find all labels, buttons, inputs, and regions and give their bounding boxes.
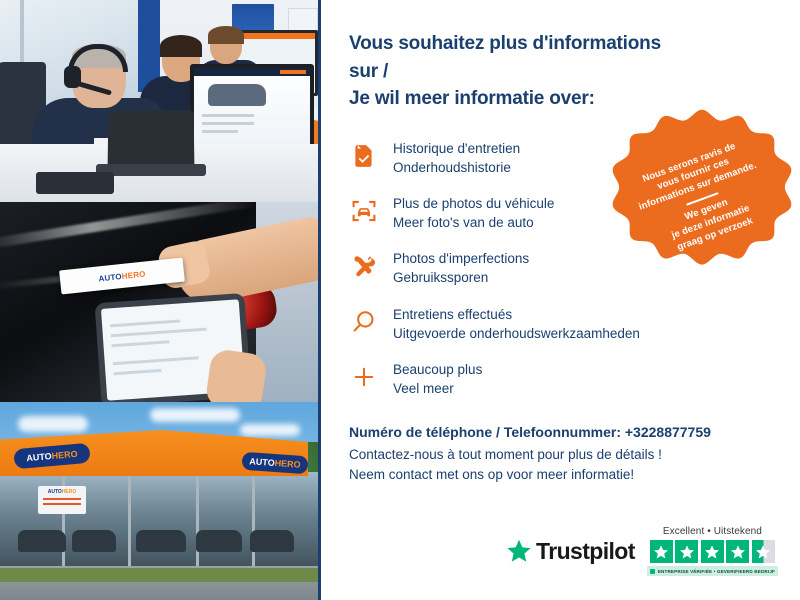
feature-label-nl: Meer foto's van de auto [393, 213, 554, 232]
star-filled [675, 540, 698, 563]
feature-item-much-more: Beaucoup plus Veel meer [349, 360, 776, 398]
photo-column: AUTOHERO [0, 0, 318, 600]
trustpilot-stars [650, 540, 775, 563]
showroom-car [136, 530, 186, 552]
feature-label-nl: Gebruikssporen [393, 268, 529, 287]
feature-text: Historique d'entretien Onderhoudshistori… [393, 139, 520, 177]
page-title-line-fr: Vous souhaitez plus d'informations sur / [349, 30, 679, 85]
showroom-car [196, 530, 242, 552]
car-inspection-photo: AUTOHERO [0, 202, 318, 402]
showroom-car [250, 530, 294, 552]
trustpilot-name: Trustpilot [536, 538, 635, 565]
feature-item-vehicle-photos: Plus de photos du véhicule Meer foto's v… [349, 194, 776, 232]
feature-text: Photos d'imperfections Gebruikssporen [393, 249, 529, 287]
feature-list: Historique d'entretien Onderhoudshistori… [349, 139, 776, 399]
inspection-tablet [95, 293, 252, 402]
promo-page: AUTOHERO [0, 0, 800, 600]
trustpilot-rating: Excellent • Uitstekend [647, 526, 778, 576]
inspector-hand-two [205, 348, 269, 402]
desk-monitor [190, 64, 314, 156]
verified-check-icon [650, 569, 655, 574]
ruler-logo-hero: HERO [121, 269, 146, 280]
feature-label-fr: Plus de photos du véhicule [393, 196, 554, 211]
ruler-logo-auto: AUTO [98, 272, 122, 283]
feature-text: Entretiens effectués Uitgevoerde onderho… [393, 305, 640, 343]
showroom-car [18, 530, 66, 552]
star-filled [726, 540, 749, 563]
feature-label-fr: Beaucoup plus [393, 362, 482, 377]
feature-item-maintenance-history: Historique d'entretien Onderhoudshistori… [349, 139, 776, 177]
feature-label-fr: Entretiens effectués [393, 307, 512, 322]
laptop [108, 110, 195, 168]
feature-item-imperfection-photos: Photos d'imperfections Gebruikssporen [349, 249, 776, 287]
showroom-car [72, 530, 116, 552]
content-panel: Vous souhaitez plus d'informations sur /… [321, 0, 800, 600]
star-filled [650, 540, 673, 563]
grass-strip [0, 568, 318, 582]
star-half [752, 540, 775, 563]
car-photo-frame-icon [349, 196, 379, 226]
trustpilot-rating-label: Excellent • Uitstekend [663, 526, 762, 537]
banner-logo-hero: HERO [62, 489, 76, 495]
contact-line-nl: Neem contact met ons op voor meer inform… [349, 465, 789, 485]
feature-text: Beaucoup plus Veel meer [393, 360, 482, 398]
trustpilot-logo: Trustpilot [506, 538, 635, 565]
sign-logo-hero: HERO [51, 449, 78, 461]
trustpilot-star-icon [506, 538, 532, 564]
sign-logo-auto: AUTO [249, 456, 275, 468]
page-title: Vous souhaitez plus d'informations sur /… [349, 30, 679, 113]
contact-line-fr: Contactez-nous à tout moment pour plus d… [349, 445, 789, 465]
interior-banner: AUTOHERO [38, 486, 86, 514]
banner-logo-auto: AUTO [48, 489, 62, 495]
document-check-icon [349, 141, 379, 171]
verified-label: ENTREPRISE VÉRIFIÉE • GEVERIFIEERD BEDRI… [658, 569, 775, 574]
dealership-photo: AUTOHERO AUTOHERO AUTOHERO [0, 402, 318, 600]
feature-label-nl: Onderhoudshistorie [393, 158, 520, 177]
sign-logo-hero: HERO [274, 458, 301, 470]
desk-tablet [36, 172, 114, 194]
plus-icon [349, 362, 379, 392]
sign-logo-auto: AUTO [26, 451, 52, 463]
feature-label-nl: Veel meer [393, 379, 482, 398]
magnifier-icon [349, 307, 379, 337]
call-center-photo [0, 0, 318, 202]
feature-label-nl: Uitgevoerde onderhoudswerkzaamheden [393, 324, 640, 343]
trustpilot-widget[interactable]: Trustpilot Excellent • Uitstekend [506, 526, 778, 576]
feature-item-completed-maintenance: Entretiens effectués Uitgevoerde onderho… [349, 305, 776, 343]
feature-text: Plus de photos du véhicule Meer foto's v… [393, 194, 554, 232]
trustpilot-verified-bar: ENTREPRISE VÉRIFIÉE • GEVERIFIEERD BEDRI… [647, 566, 778, 576]
star-filled [701, 540, 724, 563]
feature-label-fr: Historique d'entretien [393, 141, 520, 156]
tools-cross-icon [349, 251, 379, 281]
phone-number-label[interactable]: Numéro de téléphone / Telefoonnummer: +3… [349, 424, 789, 440]
feature-label-fr: Photos d'imperfections [393, 251, 529, 266]
contact-block: Numéro de téléphone / Telefoonnummer: +3… [349, 424, 789, 486]
